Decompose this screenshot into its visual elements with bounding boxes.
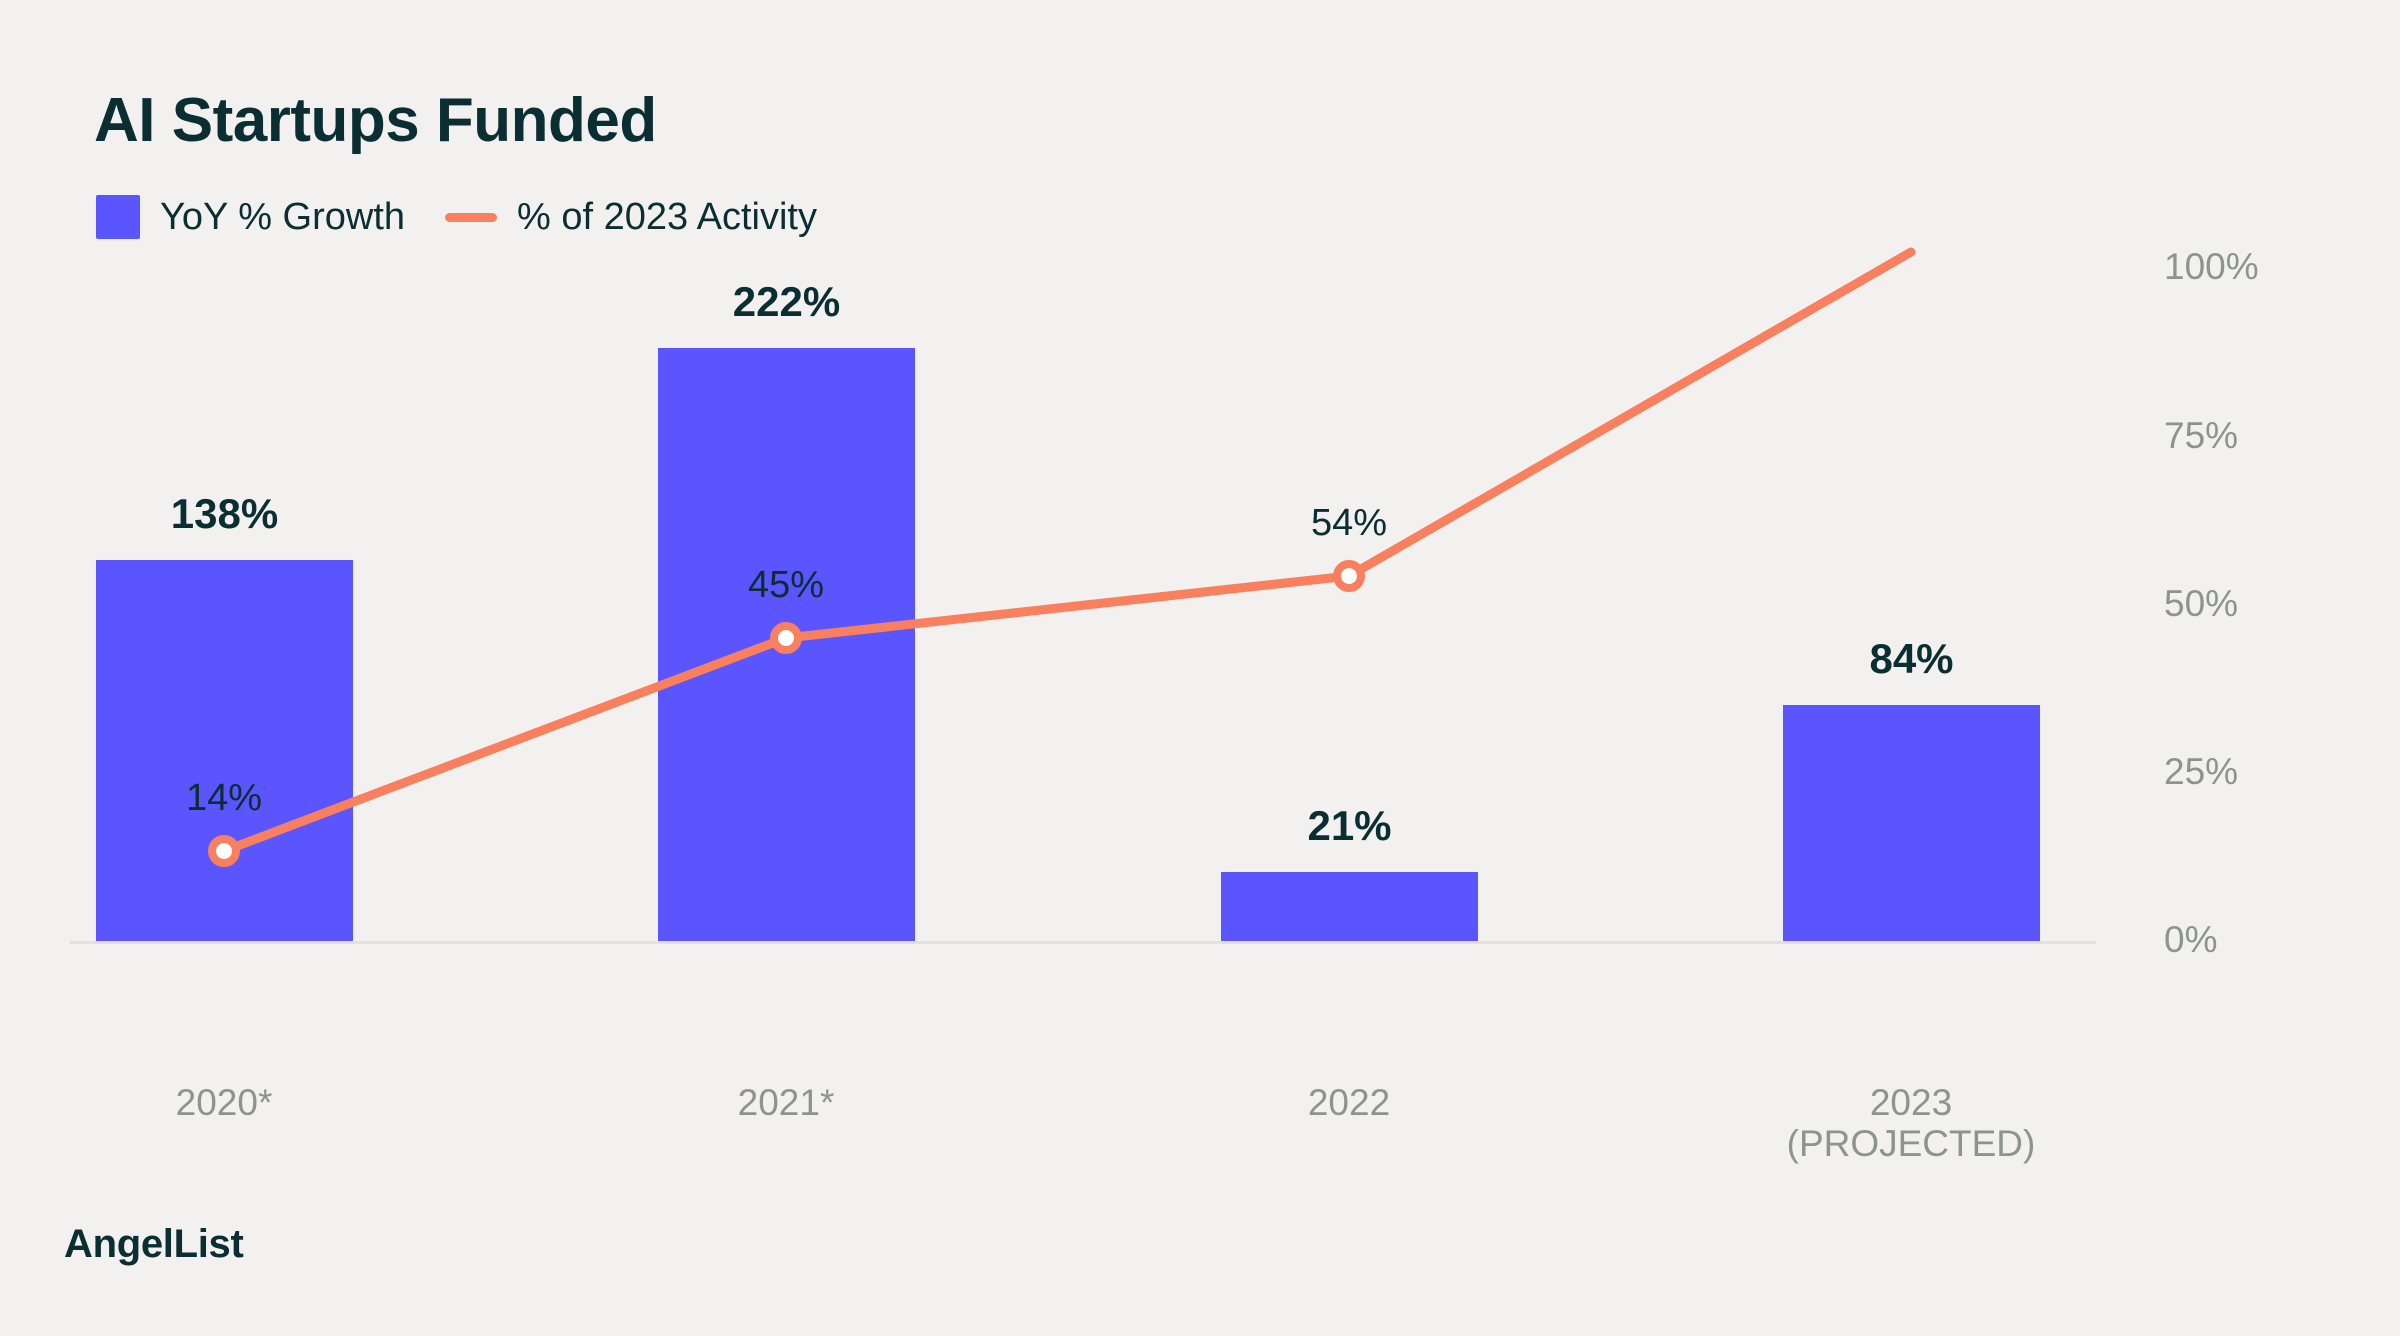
- page-title: AI Startups Funded: [94, 90, 657, 152]
- x-axis-baseline: [70, 941, 2096, 944]
- legend-item-label: % of 2023 Activity: [517, 198, 817, 236]
- bar-value-label: 84%: [1783, 638, 2040, 680]
- chart-legend: YoY % Growth % of 2023 Activity: [96, 195, 817, 239]
- legend-item-label: YoY % Growth: [160, 198, 405, 236]
- y-axis-tick-label: 0%: [2164, 921, 2217, 958]
- line-series-path: [224, 252, 1911, 851]
- legend-item-bar[interactable]: YoY % Growth: [96, 195, 405, 239]
- legend-item-line[interactable]: % of 2023 Activity: [445, 195, 817, 239]
- chart-canvas: AI Startups Funded YoY % Growth % of 202…: [0, 0, 2400, 1336]
- bar-value-label: 222%: [658, 281, 915, 323]
- y-axis-tick-label: 25%: [2164, 753, 2238, 790]
- angellist-logo: AngelList: [64, 1224, 244, 1264]
- bar-2020[interactable]: [96, 560, 353, 941]
- line-point-label: 14%: [74, 779, 374, 817]
- y-axis-tick-label: 100%: [2164, 248, 2259, 285]
- bar-value-label: 21%: [1221, 805, 1478, 847]
- y-axis-tick-label: 50%: [2164, 585, 2238, 622]
- legend-line-swatch-icon: [445, 213, 497, 222]
- line-point-label: 54%: [1199, 504, 1499, 542]
- x-axis-tick-label: 2022: [1099, 1082, 1599, 1123]
- x-axis-tick-label: 2021*: [536, 1082, 1036, 1123]
- bar-2021[interactable]: [658, 348, 915, 941]
- legend-square-swatch-icon: [96, 195, 140, 239]
- line-point-marker[interactable]: [1337, 564, 1361, 588]
- bar-2022[interactable]: [1221, 872, 1478, 941]
- bar-2023[interactable]: [1783, 705, 2040, 941]
- bar-value-label: 138%: [96, 493, 353, 535]
- x-axis-tick-label: 2020*: [0, 1082, 474, 1123]
- x-axis-tick-label: 2023 (PROJECTED): [1661, 1082, 2161, 1165]
- y-axis-tick-label: 75%: [2164, 417, 2238, 454]
- line-point-label: 45%: [636, 566, 936, 604]
